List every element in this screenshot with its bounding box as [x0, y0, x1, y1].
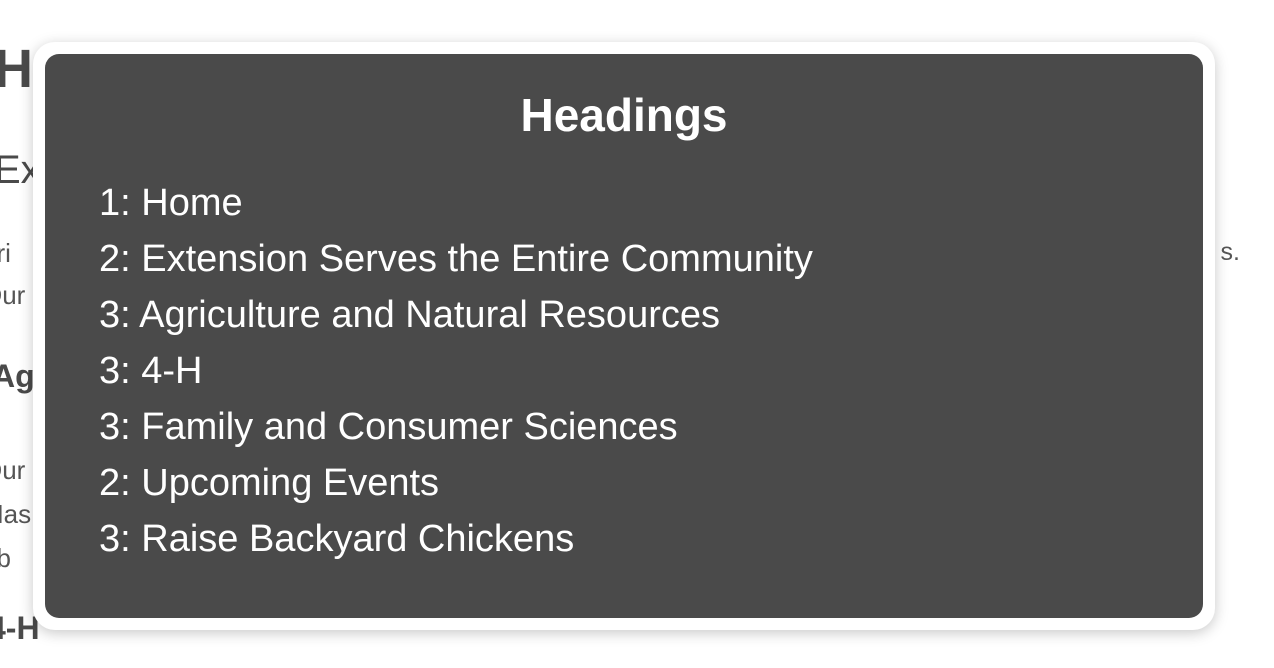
list-item[interactable]: 2: Upcoming Events [99, 455, 1203, 511]
background-paragraph-2: Our Mas ub [0, 448, 31, 580]
headings-list: 1: Home 2: Extension Serves the Entire C… [45, 175, 1203, 567]
headings-dialog: Headings 1: Home 2: Extension Serves the… [33, 42, 1215, 630]
list-item[interactable]: 1: Home [99, 175, 1203, 231]
screen-root: H Ex hri Our Agr Our Mas ub 4-H s. Headi… [0, 0, 1274, 668]
list-item[interactable]: 3: Agriculture and Natural Resources [99, 287, 1203, 343]
background-page-heading-1: H [0, 38, 32, 100]
list-item[interactable]: 3: Raise Backyard Chickens [99, 511, 1203, 567]
headings-dialog-title: Headings [45, 54, 1203, 141]
list-item[interactable]: 3: Family and Consumer Sciences [99, 399, 1203, 455]
list-item[interactable]: 2: Extension Serves the Entire Community [99, 231, 1203, 287]
background-paragraph-1: hri Our [0, 232, 25, 316]
headings-dialog-panel: Headings 1: Home 2: Extension Serves the… [45, 54, 1203, 618]
list-item[interactable]: 3: 4-H [99, 343, 1203, 399]
background-text-fragment-right: s. [1221, 238, 1240, 267]
